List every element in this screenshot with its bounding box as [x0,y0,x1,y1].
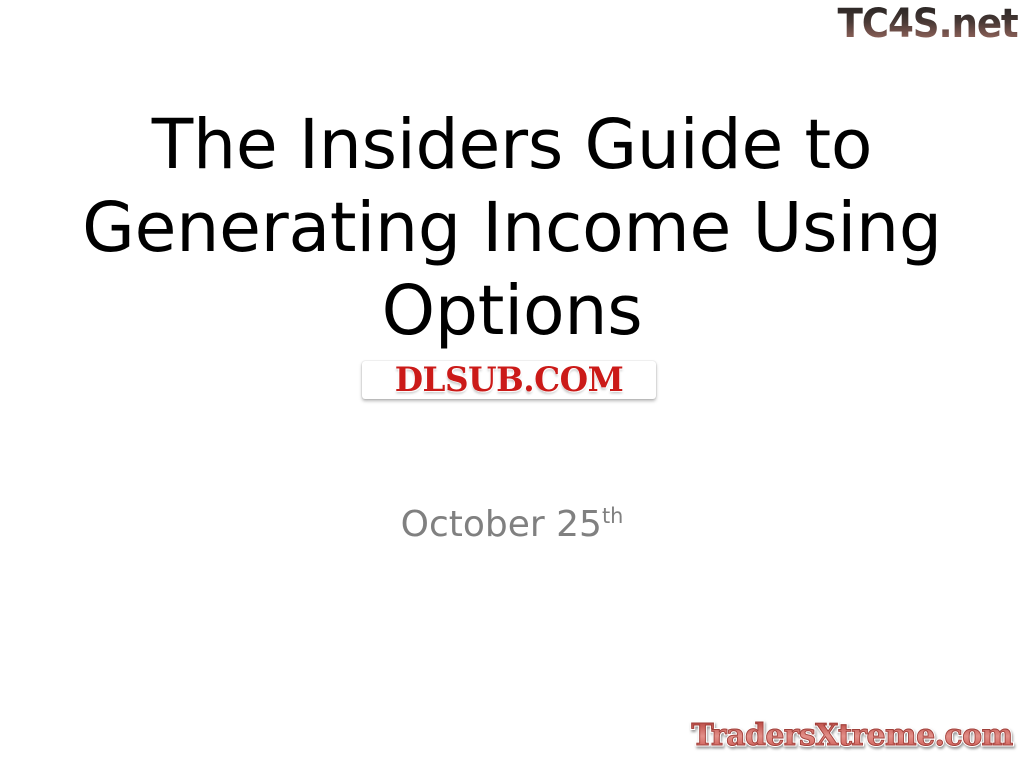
presentation-slide: TC4S.net The Insiders Guide to Generatin… [0,0,1024,768]
title-line-3: Options [63,270,961,353]
slide-title: The Insiders Guide to Generating Income … [56,104,968,353]
tradersxtreme-footer-logo: TradersXtreme.com TradersXtreme.com [686,716,1018,758]
subtitle-ordinal-suffix: th [602,504,623,528]
title-line-2: Generating Income Using [63,187,961,270]
slide-subtitle-date: October 25th [56,503,968,547]
dlsub-watermark-text: DLSUB.COM [363,360,654,401]
dlsub-watermark: DLSUB.COM [362,360,656,402]
tradersxtreme-logo-fill: TradersXtreme.com [686,716,1018,758]
subtitle-month-day: October 25 [401,504,602,545]
title-line-1: The Insiders Guide to [63,104,961,187]
tc4s-brand-logo: TC4S.net [838,2,1018,46]
